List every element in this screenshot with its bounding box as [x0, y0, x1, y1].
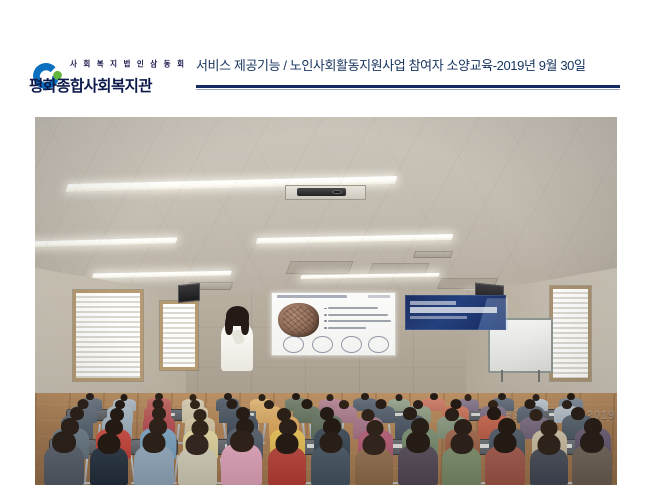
ceiling-light [256, 234, 453, 244]
slide-text-line [328, 320, 391, 322]
audience-member [530, 436, 568, 485]
banner-text-line [410, 316, 467, 319]
audience-member-head [292, 393, 300, 400]
audience-member-head [230, 430, 254, 452]
audience-member-head [258, 394, 265, 401]
audience-member-head [361, 393, 369, 400]
slide-bullet [324, 327, 327, 329]
audience-member [90, 435, 128, 485]
slide-text-line [328, 327, 366, 329]
audience-member [178, 436, 216, 485]
audience-member-head [319, 432, 342, 453]
audience-member-head [98, 433, 121, 454]
audience [35, 349, 617, 485]
ceiling-light [66, 176, 397, 192]
banner-text-line [410, 307, 498, 313]
audience-member-head [537, 434, 560, 455]
audience-member-head [529, 409, 542, 421]
wall-speaker [178, 283, 200, 303]
audience-member [355, 436, 393, 485]
audience-member-head [396, 394, 403, 401]
presenter-hair [241, 316, 249, 335]
audience-member-head [190, 400, 200, 409]
audience-member-head [276, 433, 299, 454]
page-header: 사 회 복 지 법 인 삼 동 회 평화종합사회복지관 서비스 제공기능 / 노… [0, 0, 650, 112]
event-photo: 평화사회복지관 2019 [35, 117, 617, 485]
projector-lens [332, 190, 342, 194]
ceiling-light [35, 237, 177, 248]
audience-member-head [264, 400, 274, 409]
audience-member [221, 432, 262, 485]
ceiling-projector [285, 185, 366, 199]
stage-banner [405, 295, 507, 330]
page-title: 서비스 제공기능 / 노인사회활동지원사업 참여자 소양교육-2019년 9월 … [196, 56, 620, 76]
audience-member-head [498, 393, 506, 400]
title-divider [196, 85, 620, 88]
title-divider-thin [196, 89, 620, 90]
banner-graphic [478, 298, 509, 329]
slide-text-line [328, 314, 388, 316]
title-block: 서비스 제공기능 / 노인사회활동지원사업 참여자 소양교육-2019년 9월 … [196, 56, 620, 76]
audience-member-head [567, 393, 575, 400]
audience-member [311, 434, 351, 485]
banner-text-line [410, 301, 457, 304]
ceiling-tile [286, 261, 354, 274]
slide-title-bar [277, 295, 347, 298]
ceiling-light [300, 273, 440, 280]
audience-member [44, 433, 85, 485]
audience-member-head [525, 399, 536, 409]
ceiling-light [93, 271, 233, 278]
audience-member-head [327, 394, 334, 401]
audience-member [572, 433, 613, 485]
presenter-hair [225, 316, 233, 335]
audience-member-head [376, 399, 387, 409]
ceiling-vent [413, 251, 453, 258]
audience-member-head [86, 393, 94, 400]
audience-member [442, 435, 480, 485]
photo-scene: 평화사회복지관 2019 [35, 117, 617, 485]
ceiling [35, 117, 617, 305]
audience-member-head [580, 431, 604, 453]
audience-member-head [363, 434, 386, 455]
brand-block: 사 회 복 지 법 인 삼 동 회 평화종합사회복지관 [26, 54, 206, 106]
audience-member-head [361, 409, 374, 421]
audience-member [268, 435, 306, 485]
slide-bullet [324, 320, 327, 322]
slide-bullet [324, 314, 327, 316]
slide-bullet [324, 308, 327, 310]
audience-member-head [430, 393, 438, 400]
audience-member-head [186, 434, 209, 455]
slide-logo-bar [368, 295, 389, 298]
projection-screen [271, 292, 396, 356]
slide-text-line [328, 307, 378, 309]
audience-member [134, 434, 174, 485]
audience-member-head [52, 431, 76, 453]
organization-name: 평화종합사회복지관 [29, 74, 152, 96]
audience-member-head [450, 433, 473, 454]
brain-diagram-icon [278, 303, 319, 336]
audience-member-head [494, 432, 517, 453]
audience-member [485, 434, 525, 485]
chair-leg [84, 458, 88, 485]
audience-member-head [406, 431, 430, 453]
audience-member-head [142, 432, 165, 453]
projector-body [297, 188, 346, 196]
audience-member [398, 433, 438, 485]
ceiling-tile [367, 263, 429, 276]
